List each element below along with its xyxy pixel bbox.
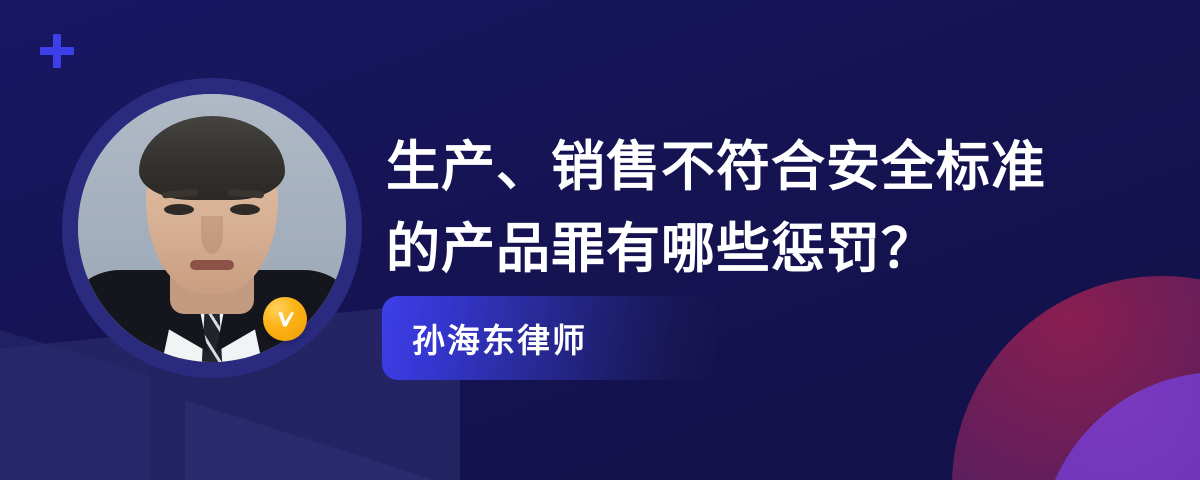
verified-check-icon — [263, 297, 307, 341]
lawyer-name-label: 孙海东律师 — [382, 314, 587, 362]
page-title: 生产、销售不符合安全标准的产品罪有哪些惩罚？ — [386, 126, 1086, 290]
avatar — [62, 78, 362, 378]
lawyer-qa-banner: 生产、销售不符合安全标准的产品罪有哪些惩罚？ 孙海东律师 — [0, 0, 1200, 480]
plus-icon — [40, 34, 74, 68]
lawyer-name-badge[interactable]: 孙海东律师 — [382, 296, 716, 380]
